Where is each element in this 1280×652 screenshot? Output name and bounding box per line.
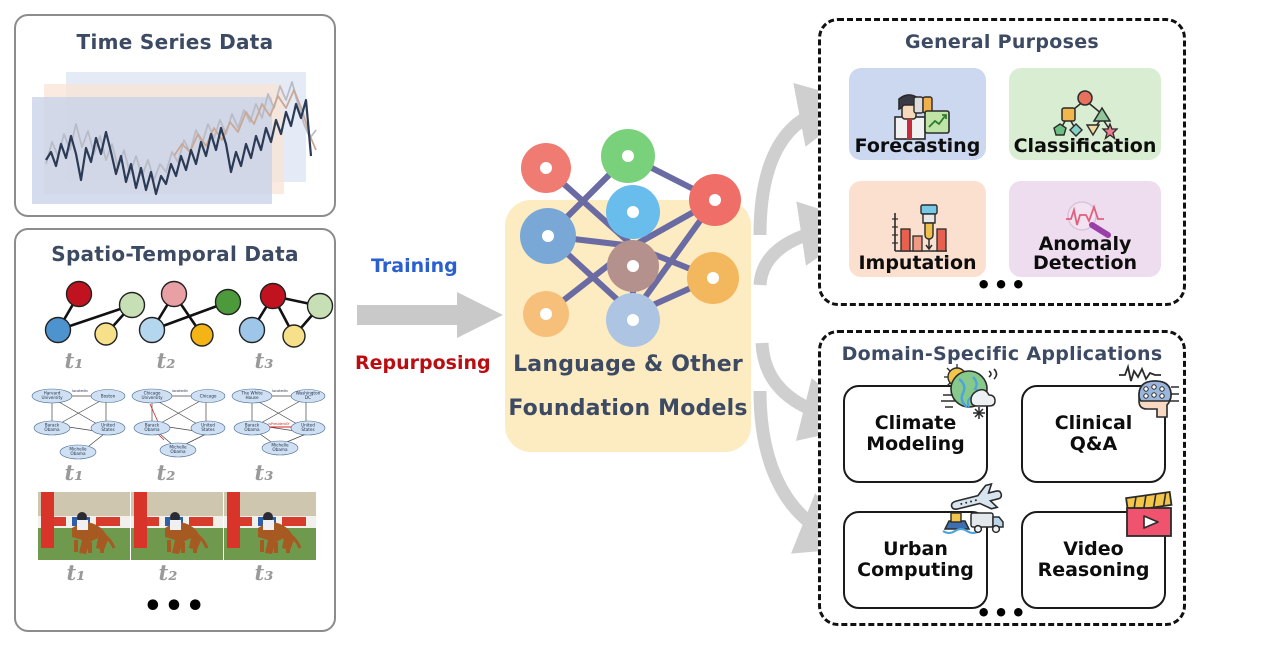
card-classification-label: Classification [1014, 137, 1157, 156]
graph-step-label-t3: t₃ [244, 348, 284, 373]
kg-step-label-t3: t₃ [244, 460, 284, 485]
general-purposes-panel: General Purposes Forecasting [818, 18, 1186, 306]
video-step-label-t2: t₂ [148, 560, 188, 585]
knowledge-graph-row-icon: HarvardUniversity Boston BarackObama Uni… [26, 380, 326, 464]
magnifier-signal-icon [1048, 201, 1122, 237]
domain-specific-title: Domain-Specific Applications [821, 343, 1183, 365]
domain-specific-panel: Domain-Specific Applications Climate Mod… [818, 330, 1186, 626]
climate-line2: Modeling [866, 433, 965, 455]
svg-text:States: States [301, 427, 314, 432]
svg-text:House: House [245, 395, 259, 400]
svg-text:University: University [141, 395, 163, 400]
dynamic-graph-row-icon [22, 272, 332, 350]
model-title-line2: Foundation Models [505, 396, 751, 421]
svg-text:Obama: Obama [70, 451, 86, 456]
spatio-temporal-title: Spatio-Temporal Data [16, 242, 334, 266]
svg-text:Boston: Boston [101, 394, 116, 399]
general-purposes-title: General Purposes [821, 31, 1183, 53]
svg-text:locatedIn: locatedIn [272, 389, 288, 393]
card-imputation-label: Imputation [858, 254, 976, 273]
spatio-temporal-panel: Spatio-Temporal Data [14, 228, 336, 632]
transport-icon [941, 485, 1005, 543]
general-purposes-ellipsis: ••• [821, 273, 1183, 297]
svg-text:Obama: Obama [144, 427, 160, 432]
svg-text:Obama: Obama [170, 449, 186, 454]
card-urban-computing-label: Urban Computing [857, 539, 974, 582]
video-frames-icon [38, 492, 316, 560]
kg-step-label-t2: t₂ [146, 460, 186, 485]
svg-text:University: University [41, 395, 63, 400]
decision-tree-icon [1046, 88, 1124, 140]
urban-line2: Computing [857, 559, 974, 581]
urban-line1: Urban [883, 538, 948, 560]
line-chart-icon [24, 64, 330, 212]
card-anomaly-detection[interactable]: Anomaly Detection [1009, 181, 1161, 277]
card-classification[interactable]: Classification [1009, 68, 1161, 160]
binoculars-forecast-icon [881, 89, 955, 141]
svg-text:States: States [201, 427, 214, 432]
svg-text:Obama: Obama [272, 447, 288, 452]
time-series-title: Time Series Data [16, 30, 334, 54]
svg-text:isPresidentOf: isPresidentOf [268, 422, 290, 426]
clapperboard-icon [1123, 493, 1177, 543]
svg-text:DC: DC [305, 395, 311, 400]
video-step-label-t3: t₃ [244, 560, 284, 585]
time-series-panel: Time Series Data [14, 14, 336, 217]
card-forecasting-label: Forecasting [855, 137, 981, 156]
spatio-temporal-ellipsis: ••• [16, 592, 334, 622]
svg-text:Chicago: Chicago [200, 394, 217, 399]
eeg-head-icon [1117, 365, 1179, 421]
card-video-reasoning-label: Video Reasoning [1038, 539, 1150, 582]
neural-network-icon [500, 128, 760, 350]
video-line1: Video [1063, 538, 1123, 560]
graph-step-label-t2: t₂ [146, 348, 186, 373]
card-anomaly-detection-label: Anomaly Detection [1033, 235, 1137, 273]
svg-text:locatedIn: locatedIn [72, 389, 88, 393]
anomaly-line2: Detection [1033, 252, 1137, 274]
model-title-line1: Language & Other [505, 352, 751, 377]
repurposing-label: Repurposing [355, 352, 491, 374]
video-line2: Reasoning [1038, 559, 1150, 581]
video-step-label-t1: t₁ [56, 560, 96, 585]
bar-dropper-icon [881, 203, 955, 259]
card-forecasting[interactable]: Forecasting [849, 68, 986, 160]
domain-specific-ellipsis: ••• [821, 601, 1183, 625]
card-imputation[interactable]: Imputation [849, 181, 986, 277]
right-arrow-icon [357, 292, 503, 338]
svg-text:locatedIn: locatedIn [172, 389, 188, 393]
training-label: Training [371, 255, 458, 277]
clinical-line2: Q&A [1070, 433, 1117, 455]
svg-text:Obama: Obama [44, 427, 60, 432]
svg-text:Obama: Obama [244, 427, 260, 432]
kg-step-label-t1: t₁ [54, 460, 94, 485]
svg-text:States: States [101, 427, 114, 432]
globe-weather-icon [939, 363, 1001, 421]
graph-step-label-t1: t₁ [54, 348, 94, 373]
